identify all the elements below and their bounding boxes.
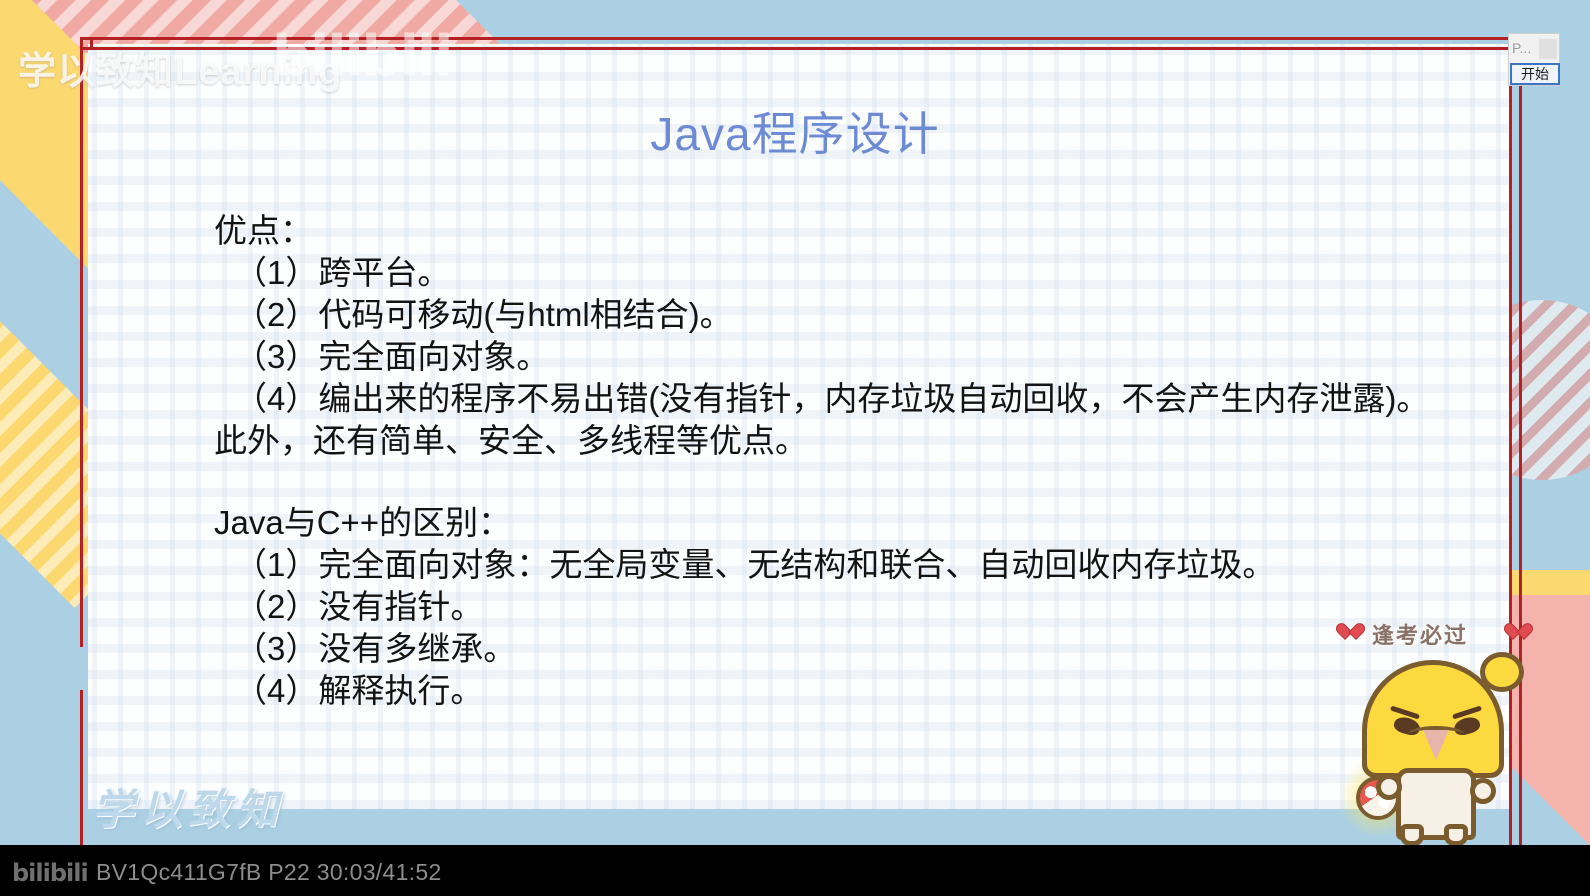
powerpoint-window-title: P...: [1512, 40, 1531, 56]
mascot-arm-right: [1470, 778, 1496, 804]
list-item: （3）没有多继承。: [214, 628, 1275, 670]
list-item: （2）代码可移动(与html相结合)。: [214, 294, 1429, 336]
frame-border-top-inner: [80, 47, 1512, 50]
ribbon-tab-home[interactable]: 开始: [1510, 63, 1560, 85]
slide-block-advantages: 优点： （1）跨平台。 （2）代码可移动(与html相结合)。 （3）完全面向对…: [214, 210, 1429, 462]
list-item: （1）完全面向对象：无全局变量、无结构和联合、自动回收内存垃圾。: [214, 544, 1275, 586]
frame-border-left-lower: [80, 690, 83, 845]
list-item: （1）跨平台。: [214, 252, 1429, 294]
heart-icon: [1342, 624, 1358, 639]
block-footnote: 此外，还有简单、安全、多线程等优点。: [214, 420, 1429, 462]
mascot-sticker: 逢考必过: [1330, 618, 1540, 845]
mascot-arm-left: [1376, 774, 1402, 800]
block-heading: 优点：: [214, 210, 1429, 252]
slide-title: Java程序设计: [0, 98, 1590, 164]
frame-border-left-inner: [90, 37, 93, 49]
block-heading: Java与C++的区别：: [214, 502, 1275, 544]
video-meta-text: BV1Qc411G7fB P22 30:03/41:52: [96, 859, 442, 886]
video-player-stage: 学以致知Learning bilibili 学以致知 Java程序设计 优点： …: [0, 0, 1590, 896]
slide-block-java-vs-cpp: Java与C++的区别： （1）完全面向对象：无全局变量、无结构和联合、自动回收…: [214, 502, 1275, 712]
bilibili-logo: bilibili: [12, 859, 88, 887]
list-item: （4）编出来的程序不易出错(没有指针，内存垃圾自动回收，不会产生内存泄露)。: [214, 378, 1429, 420]
bilibili-info-bar: bilibili BV1Qc411G7fB P22 30:03/41:52: [0, 845, 1590, 896]
list-item: （4）解释执行。: [214, 670, 1275, 712]
list-item: （3）完全面向对象。: [214, 336, 1429, 378]
powerpoint-window-fragment[interactable]: P... 开始: [1508, 33, 1560, 86]
frame-border-top-outer: [80, 37, 1512, 40]
mascot-leg-right: [1444, 824, 1468, 845]
presentation-slide: 学以致知Learning bilibili 学以致知 Java程序设计 优点： …: [0, 0, 1590, 845]
heart-icon: [1510, 624, 1526, 639]
mascot-beak: [1423, 730, 1449, 760]
mascot-leg-left: [1400, 824, 1424, 845]
mascot-caption: 逢考必过: [1372, 618, 1468, 650]
powerpoint-thumbnail: [1539, 39, 1557, 59]
list-item: （2）没有指针。: [214, 586, 1275, 628]
